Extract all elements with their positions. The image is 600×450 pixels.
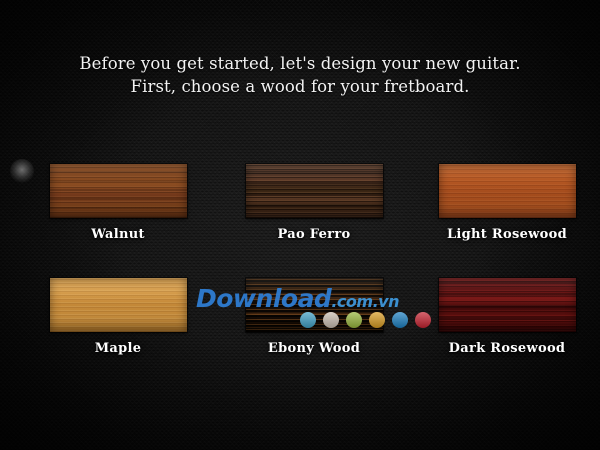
wood-option-dark-rosewood[interactable]: Dark Rosewood xyxy=(419,278,595,356)
wood-option-pao-ferro[interactable]: Pao Ferro xyxy=(226,164,402,242)
wood-swatch-light-rosewood[interactable] xyxy=(439,164,576,218)
wood-edge-shadow xyxy=(50,278,187,332)
page-title: Before you get started, let's design you… xyxy=(0,52,600,98)
heading-line-1: Before you get started, let's design you… xyxy=(79,54,520,73)
wood-option-maple[interactable]: Maple xyxy=(30,278,206,356)
wood-swatch-dark-rosewood[interactable] xyxy=(439,278,576,332)
wood-edge-shadow xyxy=(439,164,576,218)
wood-edge-shadow xyxy=(246,164,383,218)
wood-label-ebony-wood: Ebony Wood xyxy=(226,341,402,356)
wood-swatch-pao-ferro[interactable] xyxy=(246,164,383,218)
wood-swatch-maple[interactable] xyxy=(50,278,187,332)
cursor-glow-icon xyxy=(10,159,34,183)
wood-edge-shadow xyxy=(50,164,187,218)
wood-edge-shadow xyxy=(439,278,576,332)
wood-label-light-rosewood: Light Rosewood xyxy=(419,227,595,242)
wood-label-dark-rosewood: Dark Rosewood xyxy=(419,341,595,356)
wood-swatch-walnut[interactable] xyxy=(50,164,187,218)
wood-option-light-rosewood[interactable]: Light Rosewood xyxy=(419,164,595,242)
wood-option-walnut[interactable]: Walnut xyxy=(30,164,206,242)
wood-label-walnut: Walnut xyxy=(30,227,206,242)
guitar-designer-screen: Before you get started, let's design you… xyxy=(0,0,600,450)
wood-edge-shadow xyxy=(246,278,383,332)
wood-label-pao-ferro: Pao Ferro xyxy=(226,227,402,242)
heading-line-2: First, choose a wood for your fretboard. xyxy=(0,75,600,98)
wood-option-ebony-wood[interactable]: Ebony Wood xyxy=(226,278,402,356)
wood-swatch-ebony-wood[interactable] xyxy=(246,278,383,332)
wood-label-maple: Maple xyxy=(30,341,206,356)
